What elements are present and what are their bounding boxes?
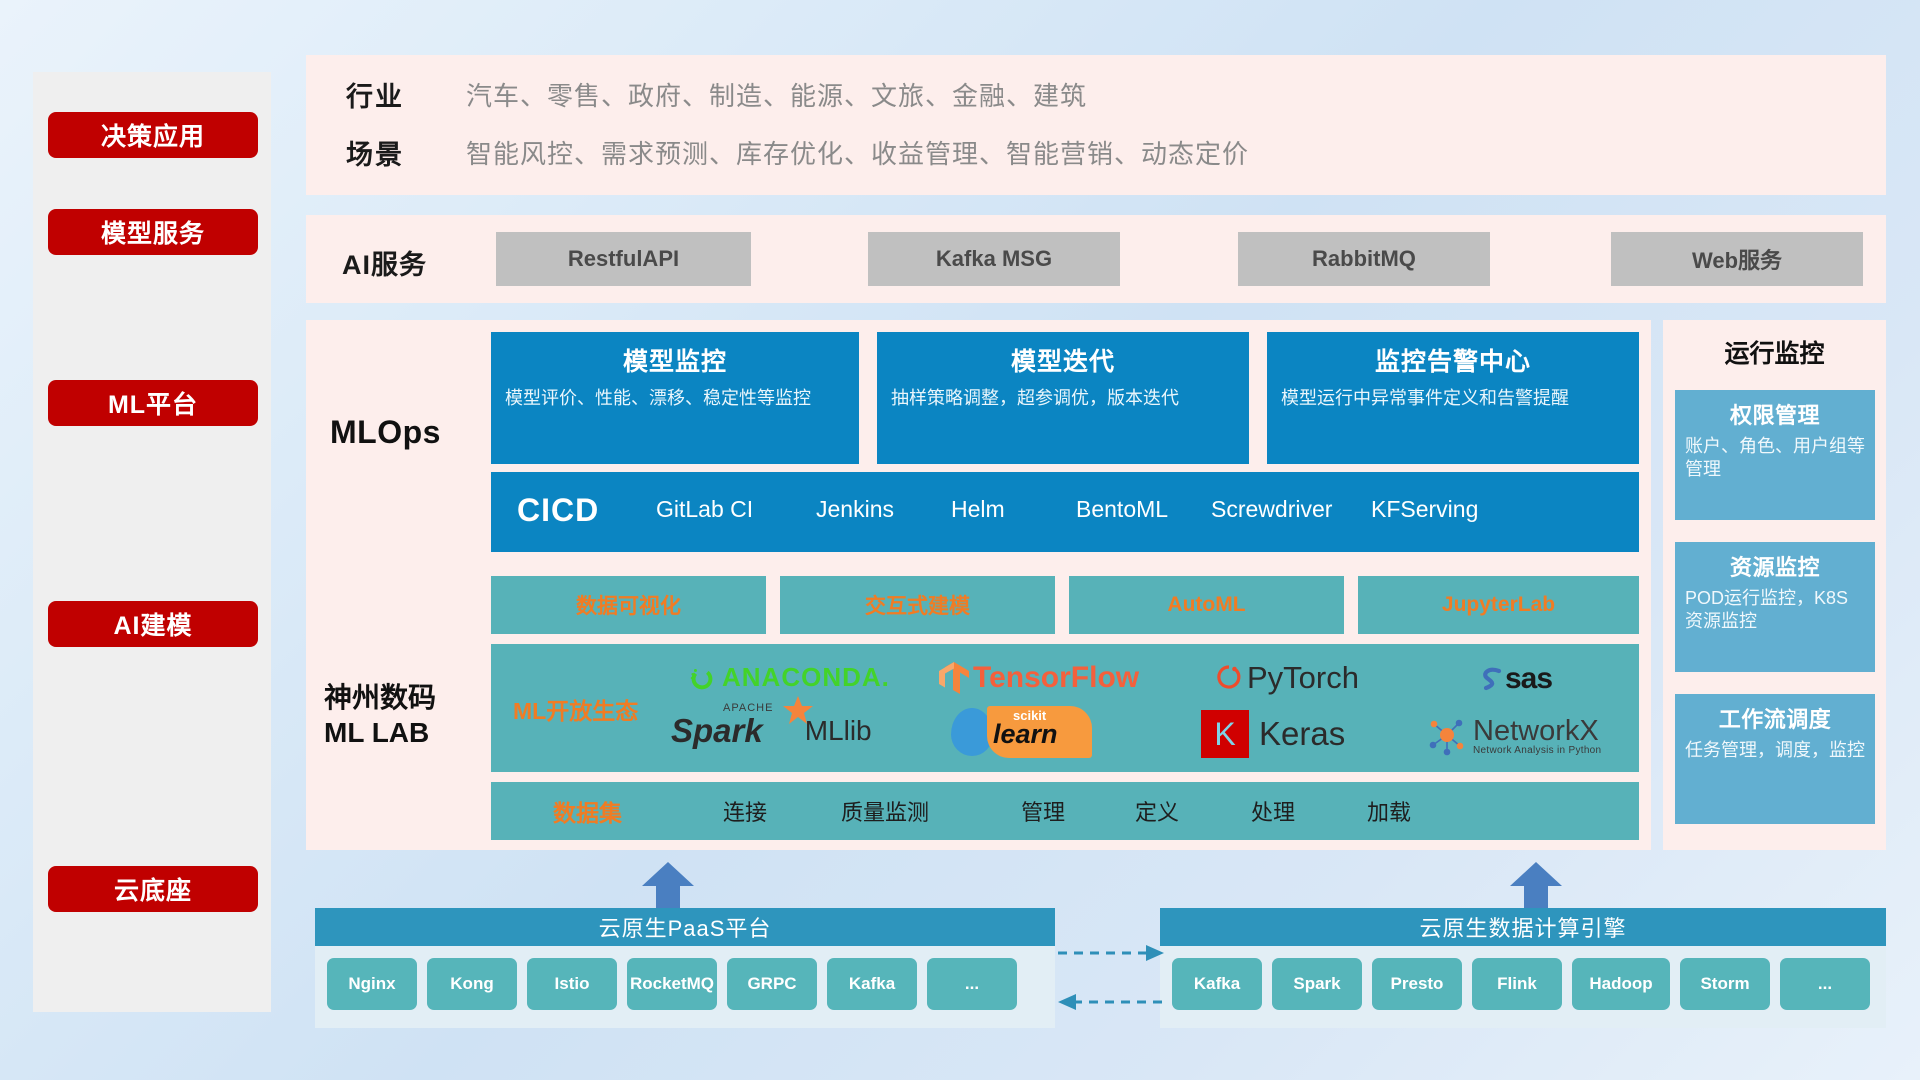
- paas-chip-kong[interactable]: Kong: [427, 958, 517, 1010]
- tensorflow-mark-icon: [937, 660, 971, 696]
- card-title: 模型监控: [505, 342, 845, 378]
- mlops-panel: 模型监控 模型评价、性能、漂移、稳定性等监控 模型迭代 抽样策略调整，超参调优，…: [306, 320, 1651, 564]
- pytorch-wordmark: PyTorch: [1247, 660, 1359, 696]
- card-desc: 模型评价、性能、漂移、稳定性等监控: [505, 386, 845, 410]
- dataset-item-connect[interactable]: 连接: [723, 795, 767, 827]
- keras-logo: K Keras: [1201, 710, 1345, 758]
- industry-values: 汽车、零售、政府、制造、能源、文旅、金融、建筑: [466, 76, 1087, 113]
- card-desc: 账户、角色、用户组等管理: [1685, 435, 1865, 482]
- engine-chip-storm[interactable]: Storm: [1680, 958, 1770, 1010]
- dataset-item-quality[interactable]: 质量监测: [841, 795, 929, 827]
- arrow-left-head-icon: [1058, 994, 1076, 1010]
- cicd-item-gitlab-ci[interactable]: GitLab CI: [656, 496, 774, 522]
- mllab-tab-automl[interactable]: AutoML: [1069, 576, 1344, 634]
- dataset-item-process[interactable]: 处理: [1251, 795, 1295, 827]
- decision-apps-panel: 行业 汽车、零售、政府、制造、能源、文旅、金融、建筑 场景 智能风控、需求预测、…: [306, 55, 1886, 195]
- scikit-learn-wordmark: learn: [993, 719, 1058, 750]
- card-title: 模型迭代: [891, 342, 1235, 378]
- spark-star-icon: [781, 694, 815, 728]
- run-monitoring-title: 运行监控: [1663, 334, 1886, 370]
- ai-service-restfulapi[interactable]: RestfulAPI: [496, 232, 751, 286]
- mlops-card-model-iteration[interactable]: 模型迭代 抽样策略调整，超参调优，版本迭代: [877, 332, 1249, 464]
- engine-header: 云原生数据计算引擎: [1160, 908, 1886, 946]
- networkx-logo: NetworkX Network Analysis in Python: [1426, 714, 1601, 756]
- keras-wordmark: Keras: [1259, 715, 1345, 753]
- ml-lab-label-line1: 神州数码: [324, 680, 436, 715]
- spark-logo: APACHE Spark MLlib: [671, 712, 872, 750]
- card-desc: 抽样策略调整，超参调优，版本迭代: [891, 386, 1235, 410]
- engine-block: 云原生数据计算引擎 Kafka Spark Presto Flink Hadoo…: [1160, 908, 1886, 1028]
- dataset-item-define[interactable]: 定义: [1135, 795, 1179, 827]
- pytorch-flame-icon: [1216, 662, 1242, 694]
- cicd-bar: CICD GitLab CI Jenkins Helm BentoML Scre…: [491, 472, 1639, 552]
- industry-row: 行业 汽车、零售、政府、制造、能源、文旅、金融、建筑: [346, 75, 1087, 114]
- engine-chip-hadoop[interactable]: Hadoop: [1572, 958, 1670, 1010]
- run-monitoring-panel: 运行监控 权限管理 账户、角色、用户组等管理 资源监控 POD运行监控，K8S资…: [1663, 320, 1886, 850]
- industry-label: 行业: [346, 75, 466, 114]
- networkx-tagline: Network Analysis in Python: [1473, 745, 1601, 756]
- anaconda-wordmark: ANACONDA.: [722, 662, 890, 693]
- monitor-card-resource[interactable]: 资源监控 POD运行监控，K8S资源监控: [1675, 542, 1875, 672]
- keras-mark-icon: K: [1201, 710, 1249, 758]
- arrow-right-head-icon: [1146, 945, 1164, 961]
- card-title: 资源监控: [1685, 550, 1865, 582]
- anaconda-ring-icon: [687, 663, 717, 693]
- layer-chip-label: ML平台: [108, 385, 198, 421]
- paas-chip-rocketmq[interactable]: RocketMQ: [627, 958, 717, 1010]
- layer-chip-model-service[interactable]: 模型服务: [48, 209, 258, 255]
- ai-service-label: AI服务: [342, 243, 427, 282]
- tensorflow-logo: TensorFlow: [937, 660, 1139, 696]
- layer-chip-label: 模型服务: [101, 214, 205, 250]
- sklearn-orange-blob-icon: scikit learn: [987, 706, 1092, 758]
- sas-swirl-icon: [1476, 664, 1506, 694]
- mlops-label: MLOps: [330, 414, 441, 451]
- paas-chip-nginx[interactable]: Nginx: [327, 958, 417, 1010]
- paas-chip-grpc[interactable]: GRPC: [727, 958, 817, 1010]
- paas-chip-kafka[interactable]: Kafka: [827, 958, 917, 1010]
- mlops-card-alert-center[interactable]: 监控告警中心 模型运行中异常事件定义和告警提醒: [1267, 332, 1639, 464]
- engine-chip-spark[interactable]: Spark: [1272, 958, 1362, 1010]
- monitor-card-permission[interactable]: 权限管理 账户、角色、用户组等管理: [1675, 390, 1875, 520]
- ai-service-kafka-msg[interactable]: Kafka MSG: [868, 232, 1120, 286]
- paas-header: 云原生PaaS平台: [315, 908, 1055, 946]
- spark-wordmark: Spark: [671, 712, 763, 750]
- ml-open-ecosystem-bar: ML开放生态 ANACONDA. TensorFlow: [491, 644, 1639, 772]
- paas-chip-more[interactable]: ...: [927, 958, 1017, 1010]
- cicd-item-jenkins[interactable]: Jenkins: [816, 496, 934, 522]
- cicd-title: CICD: [517, 492, 599, 529]
- engine-chip-more[interactable]: ...: [1780, 958, 1870, 1010]
- dataset-item-load[interactable]: 加载: [1367, 795, 1411, 827]
- ai-service-rabbitmq[interactable]: RabbitMQ: [1238, 232, 1490, 286]
- layer-chip-label: 云底座: [114, 871, 192, 907]
- mllab-tab-data-visualization[interactable]: 数据可视化: [491, 576, 766, 634]
- engine-chip-presto[interactable]: Presto: [1372, 958, 1462, 1010]
- cicd-item-screwdriver[interactable]: Screwdriver: [1211, 496, 1329, 522]
- tensorflow-wordmark: TensorFlow: [973, 661, 1139, 695]
- scikit-learn-logo: scikit learn: [951, 706, 1092, 758]
- card-title: 工作流调度: [1685, 702, 1865, 734]
- layer-chip-decision-apps[interactable]: 决策应用: [48, 112, 258, 158]
- card-title: 权限管理: [1685, 398, 1865, 430]
- engine-chip-kafka[interactable]: Kafka: [1172, 958, 1262, 1010]
- sas-logo: sas: [1476, 662, 1552, 696]
- anaconda-logo: ANACONDA.: [687, 662, 890, 693]
- mlops-card-model-monitoring[interactable]: 模型监控 模型评价、性能、漂移、稳定性等监控: [491, 332, 859, 464]
- dataset-bar: 数据集 连接 质量监测 管理 定义 处理 加载: [491, 782, 1639, 840]
- networkx-wordmark: NetworkX: [1473, 715, 1601, 748]
- engine-chip-flink[interactable]: Flink: [1472, 958, 1562, 1010]
- scenario-row: 场景 智能风控、需求预测、库存优化、收益管理、智能营销、动态定价: [346, 133, 1249, 172]
- layer-chip-label: AI建模: [113, 606, 192, 642]
- networkx-graph-icon: [1426, 714, 1468, 756]
- dataset-title: 数据集: [553, 794, 622, 828]
- spark-apache-sup: APACHE: [723, 702, 773, 714]
- paas-chip-istio[interactable]: Istio: [527, 958, 617, 1010]
- ml-lab-panel: 数据可视化 交互式建模 AutoML JupyterLab ML开放生态 ANA…: [306, 562, 1651, 850]
- keras-mark-letter: K: [1214, 716, 1235, 753]
- scenario-label: 场景: [346, 133, 466, 172]
- sas-wordmark: sas: [1505, 662, 1552, 696]
- scenario-values: 智能风控、需求预测、库存优化、收益管理、智能营销、动态定价: [466, 134, 1249, 171]
- monitor-card-workflow[interactable]: 工作流调度 任务管理，调度，监控: [1675, 694, 1875, 824]
- cloud-link-arrows: [1050, 940, 1170, 1020]
- dataset-item-manage[interactable]: 管理: [1021, 795, 1065, 827]
- cicd-item-bentoml[interactable]: BentoML: [1076, 496, 1194, 522]
- ai-service-panel: AI服务 RestfulAPI Kafka MSG RabbitMQ Web服务: [306, 215, 1886, 303]
- cicd-item-helm[interactable]: Helm: [951, 496, 1069, 522]
- ml-lab-label: 神州数码 ML LAB: [324, 680, 436, 750]
- card-title: 监控告警中心: [1281, 342, 1625, 378]
- layer-chip-ml-platform[interactable]: ML平台: [48, 380, 258, 426]
- ml-lab-label-line2: ML LAB: [324, 715, 436, 750]
- card-desc: 模型运行中异常事件定义和告警提醒: [1281, 386, 1625, 410]
- layer-chip-ai-modeling[interactable]: AI建模: [48, 601, 258, 647]
- layer-chip-label: 决策应用: [101, 117, 205, 153]
- card-desc: 任务管理，调度，监控: [1685, 739, 1865, 762]
- card-desc: POD运行监控，K8S资源监控: [1685, 587, 1865, 634]
- layer-chip-cloud-base[interactable]: 云底座: [48, 866, 258, 912]
- mllab-tab-jupyterlab[interactable]: JupyterLab: [1358, 576, 1639, 634]
- paas-block: 云原生PaaS平台 Nginx Kong Istio RocketMQ GRPC…: [315, 908, 1055, 1028]
- ai-service-web[interactable]: Web服务: [1611, 232, 1863, 286]
- mllab-tab-interactive-modeling[interactable]: 交互式建模: [780, 576, 1055, 634]
- layer-label-rail: 决策应用 模型服务 ML平台 AI建模 云底座: [33, 72, 271, 1012]
- cicd-item-kfserving[interactable]: KFServing: [1371, 496, 1489, 522]
- ml-open-ecosystem-label: ML开放生态: [513, 692, 638, 726]
- pytorch-logo: PyTorch: [1216, 660, 1359, 696]
